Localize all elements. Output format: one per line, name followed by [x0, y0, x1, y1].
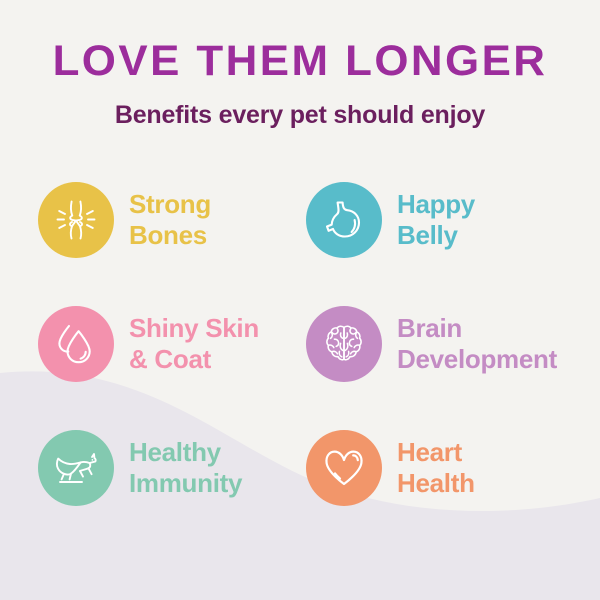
benefit-label: Healthy Immunity — [129, 437, 242, 499]
benefit-label: Brain Development — [397, 313, 557, 375]
benefit-item-strong-bones[interactable]: Strong Bones — [38, 172, 211, 268]
benefit-label-line2: Immunity — [129, 468, 242, 499]
benefit-label: Strong Bones — [129, 189, 211, 251]
benefit-item-shiny-skin-and-coat[interactable]: Shiny Skin & Coat — [38, 296, 259, 392]
benefit-label-line1: Strong — [129, 189, 211, 219]
benefit-label: Happy Belly — [397, 189, 475, 251]
benefits-row: Shiny Skin & Coat — [0, 296, 600, 420]
benefit-item-heart-health[interactable]: Heart Health — [306, 420, 475, 516]
benefit-label-line2: Health — [397, 468, 475, 499]
stomach-icon — [320, 196, 368, 244]
benefit-label-line1: Shiny Skin — [129, 313, 259, 343]
brain-icon — [320, 320, 368, 368]
benefit-label-line2: Bones — [129, 220, 211, 251]
running-dog-icon — [51, 443, 101, 493]
heart-icon — [320, 444, 368, 492]
benefit-label-line1: Healthy — [129, 437, 221, 467]
benefit-item-happy-belly[interactable]: Happy Belly — [306, 172, 475, 268]
benefit-item-brain-development[interactable]: Brain Development — [306, 296, 557, 392]
benefit-item-healthy-immunity[interactable]: Healthy Immunity — [38, 420, 242, 516]
benefit-label-line1: Brain — [397, 313, 462, 343]
page-title: LOVE THEM LONGER — [0, 36, 600, 86]
benefit-icon-badge — [38, 306, 114, 382]
infographic-poster: LOVE THEM LONGER Benefits every pet shou… — [0, 0, 600, 600]
benefit-label-line2: Development — [397, 344, 557, 375]
benefit-icon-badge — [38, 430, 114, 506]
benefits-row: Healthy Immunity — [0, 420, 600, 544]
benefits-row: Strong Bones H — [0, 172, 600, 296]
benefit-label-line1: Happy — [397, 189, 475, 219]
benefit-label-line2: Belly — [397, 220, 475, 251]
benefit-icon-badge — [306, 306, 382, 382]
benefit-icon-badge — [306, 430, 382, 506]
benefit-label: Shiny Skin & Coat — [129, 313, 259, 375]
page-subtitle: Benefits every pet should enjoy — [0, 100, 600, 130]
poster-header: LOVE THEM LONGER Benefits every pet shou… — [0, 36, 600, 130]
benefits-grid: Strong Bones H — [0, 172, 600, 544]
benefit-icon-badge — [306, 182, 382, 258]
water-droplets-icon — [52, 320, 100, 368]
bone-joint-icon — [52, 196, 100, 244]
benefit-label-line2: & Coat — [129, 344, 259, 375]
benefit-label: Heart Health — [397, 437, 475, 499]
benefit-icon-badge — [38, 182, 114, 258]
benefit-label-line1: Heart — [397, 437, 462, 467]
